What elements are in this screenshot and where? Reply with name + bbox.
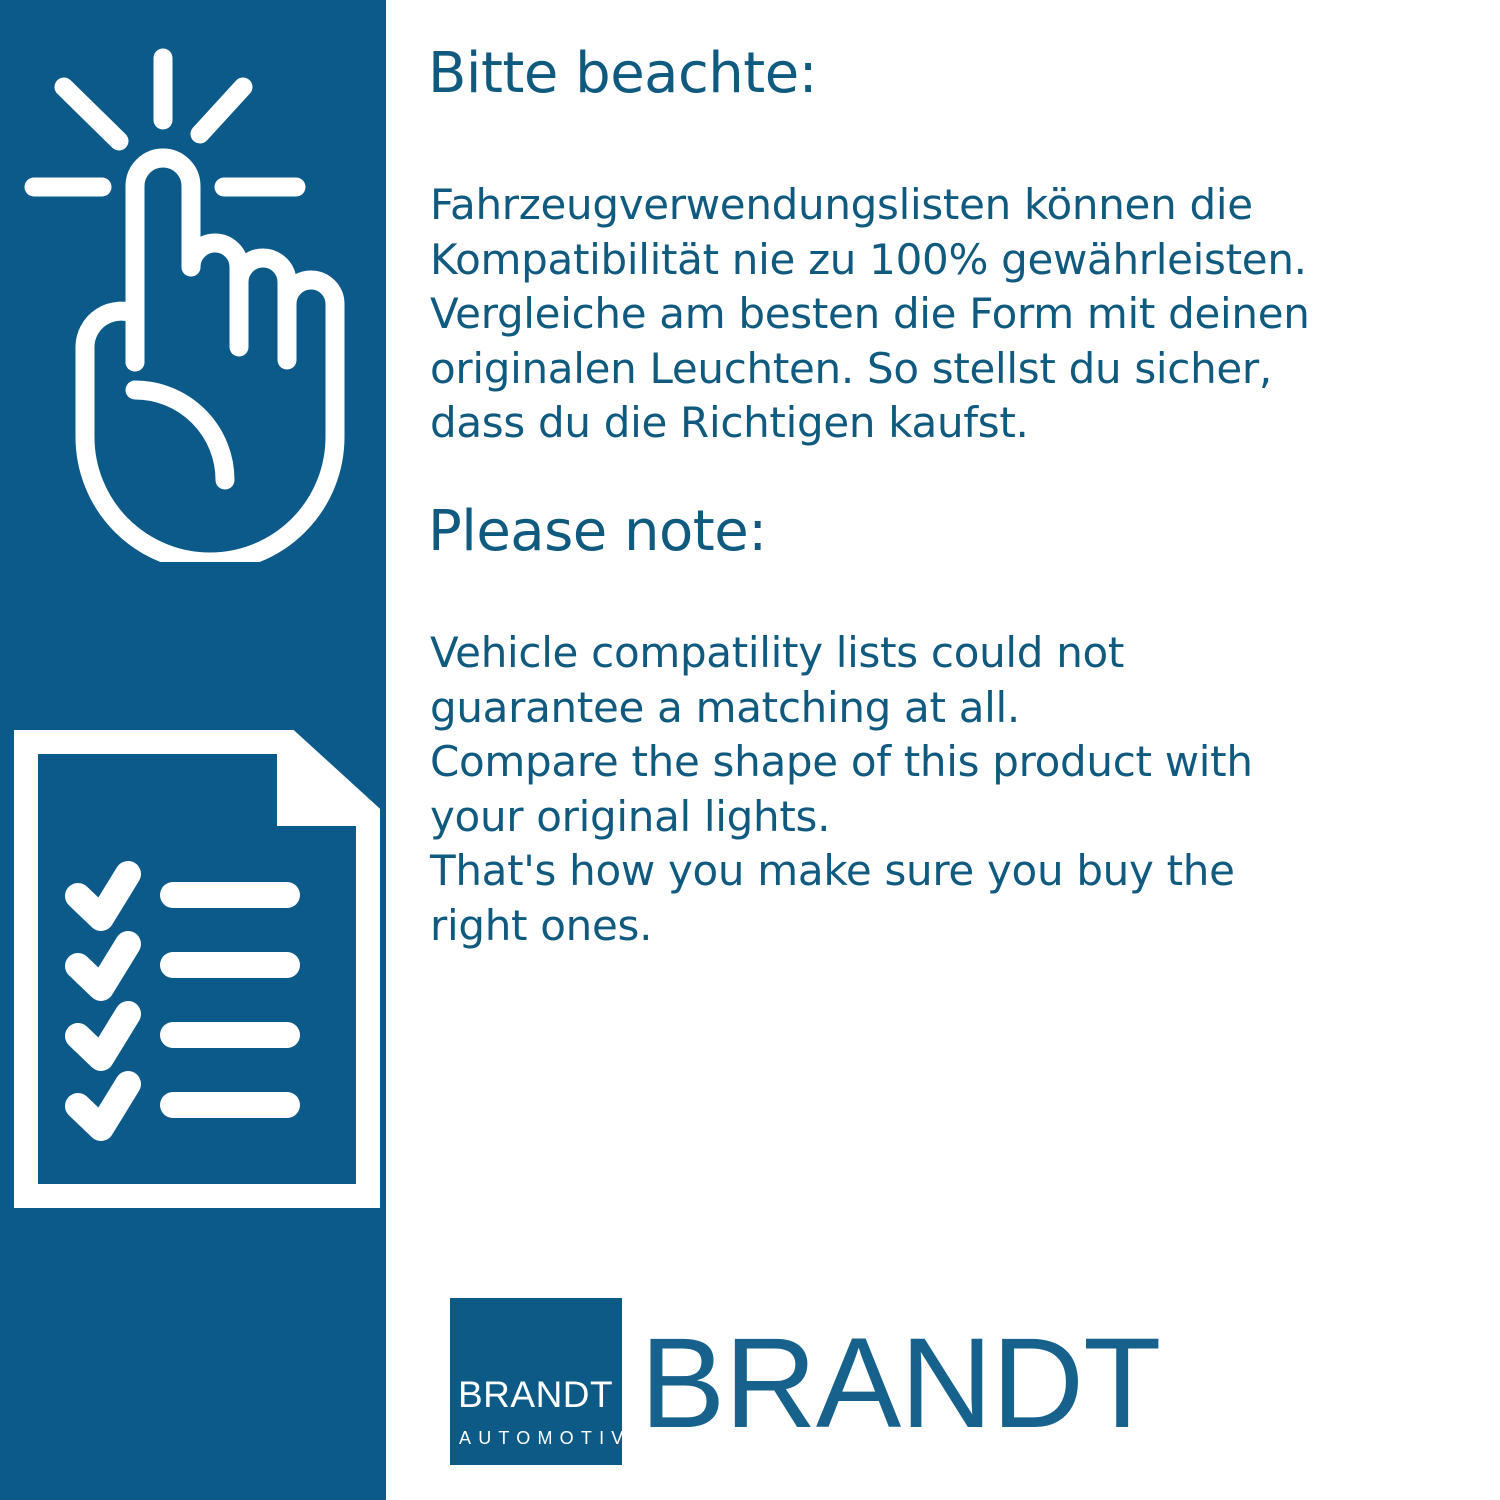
pointing-hand-click-icon bbox=[24, 42, 364, 562]
logo-mark-automotive-text: AUTOMOTIVE bbox=[459, 1429, 650, 1447]
paragraph-german-line: Fahrzeugverwendungslisten können die bbox=[430, 178, 1310, 233]
paragraph-german-line: Vergleiche am besten die Form mit deinen bbox=[430, 287, 1310, 342]
brandt-automotive-logo: BRANDT AUTOMOTIVE BRANDT bbox=[450, 1298, 1160, 1466]
paragraph-english-line: right ones. bbox=[430, 899, 1253, 954]
logo-wordmark-text: BRANDT bbox=[640, 1320, 1160, 1448]
notice-graphic: Bitte beachte: Fahrzeugverwendungslisten… bbox=[0, 0, 1500, 1500]
logo-mark-box: BRANDT AUTOMOTIVE bbox=[450, 1298, 622, 1465]
checklist-document-icon bbox=[14, 730, 380, 1208]
paragraph-english-line: Compare the shape of this product with bbox=[430, 735, 1253, 790]
paragraph-english: Vehicle compatility lists could not guar… bbox=[430, 626, 1253, 954]
paragraph-english-line: Vehicle compatility lists could not bbox=[430, 626, 1253, 681]
paragraph-german-line: Kompatibilität nie zu 100% gewährleisten… bbox=[430, 233, 1310, 288]
content-area: Bitte beachte: Fahrzeugverwendungslisten… bbox=[428, 0, 1468, 1500]
sidebar bbox=[0, 0, 386, 1500]
paragraph-english-line: guarantee a matching at all. bbox=[430, 681, 1253, 736]
paragraph-english-line: your original lights. bbox=[430, 790, 1253, 845]
paragraph-english-line: That's how you make sure you buy the bbox=[430, 844, 1253, 899]
logo-mark-brandt-text: BRANDT bbox=[458, 1376, 613, 1413]
paragraph-german: Fahrzeugverwendungslisten können die Kom… bbox=[430, 178, 1310, 451]
paragraph-german-line: dass du die Richtigen kaufst. bbox=[430, 396, 1310, 451]
heading-german: Bitte beachte: bbox=[428, 46, 817, 102]
paragraph-german-line: originalen Leuchten. So stellst du siche… bbox=[430, 342, 1310, 397]
heading-english: Please note: bbox=[428, 504, 767, 560]
